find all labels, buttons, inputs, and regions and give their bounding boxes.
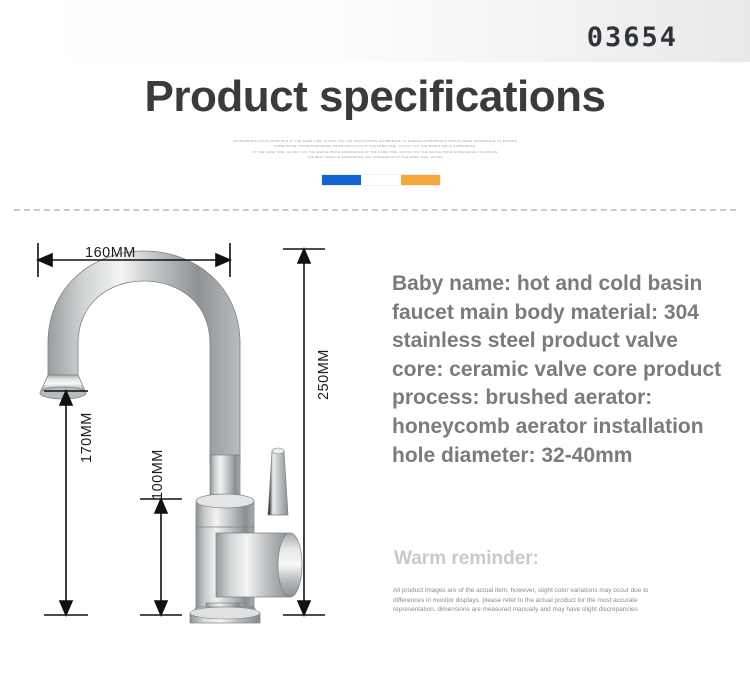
arrow-right-160	[216, 254, 230, 266]
watermark-code: 03654	[587, 22, 678, 53]
disclaimer-text: All product images are of the actual ite…	[393, 586, 736, 615]
color-segment-blue	[322, 175, 361, 185]
section-divider	[14, 209, 736, 211]
lever-tip	[272, 448, 284, 454]
arrow-down-250	[298, 601, 310, 615]
arrow-up-100	[155, 499, 167, 513]
arrow-left-160	[38, 254, 52, 266]
spout-arc	[48, 251, 240, 465]
dimension-label-spout-reach: 160MM	[85, 245, 136, 261]
lever-handle	[268, 451, 288, 515]
arrow-up-250	[298, 249, 310, 263]
base-flange-rim	[190, 607, 260, 619]
dimension-label-spout-height: 170MM	[79, 412, 95, 463]
cartridge-cap	[278, 533, 302, 597]
dimension-label-total-height: 250MM	[316, 349, 332, 400]
color-segment-orange	[401, 175, 440, 185]
product-dimension-drawing	[0, 215, 380, 655]
color-segment-white	[361, 175, 401, 185]
product-specification-page: 03654 Product specifications APPROPRIATE…	[0, 0, 750, 674]
specification-body: Baby name: hot and cold basin faucet mai…	[392, 270, 732, 470]
collar-top	[196, 494, 254, 508]
arrow-down-170	[60, 601, 72, 615]
page-title: Product specifications	[0, 72, 750, 122]
dimension-label-body-height: 100MM	[150, 449, 166, 500]
warm-reminder-heading: Warm reminder:	[394, 548, 539, 570]
arrow-down-100	[155, 601, 167, 615]
header-subtext: APPROPRIATE PRICE PRINCIPLE AT THE SAME …	[0, 139, 750, 161]
accent-color-bar	[322, 175, 440, 185]
